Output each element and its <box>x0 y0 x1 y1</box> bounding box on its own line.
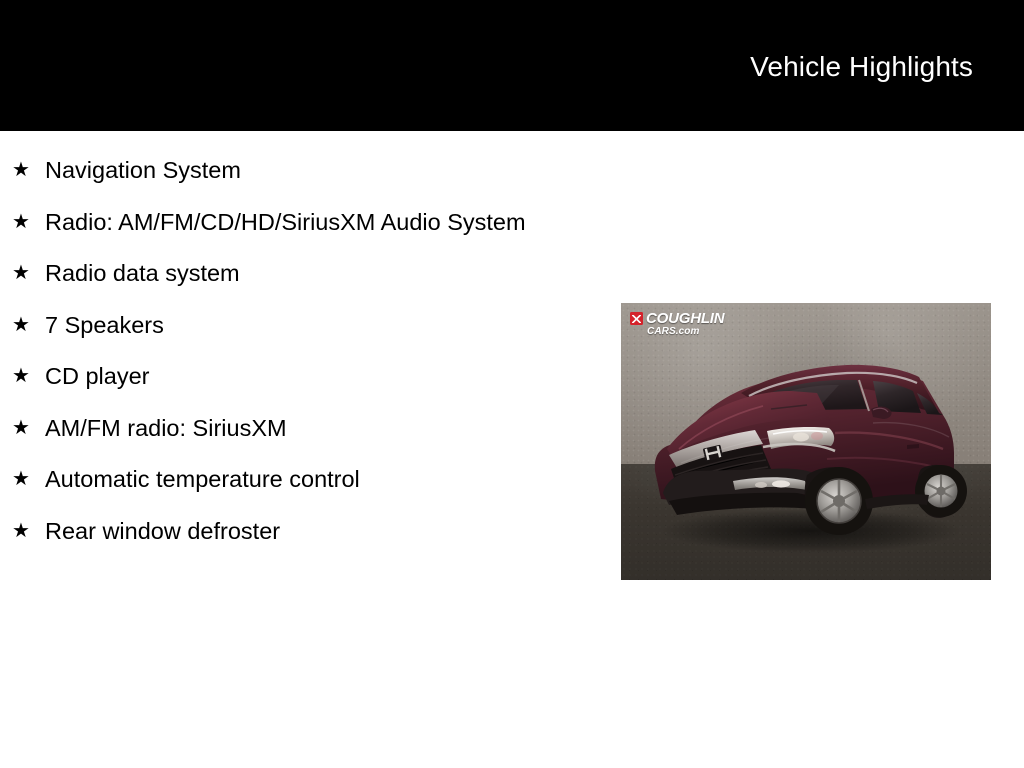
star-bullet-icon: ★ <box>12 205 34 239</box>
feature-label: 7 Speakers <box>45 308 580 342</box>
feature-label: Automatic temperature control <box>45 462 580 496</box>
list-item: ★ Navigation System <box>0 153 620 187</box>
list-item: ★ 7 Speakers <box>0 308 620 342</box>
list-item: ★ Rear window defroster <box>0 514 620 548</box>
vehicle-features-list: ★ Navigation System ★ Radio: AM/FM/CD/HD… <box>0 131 620 565</box>
feature-label: AM/FM radio: SiriusXM <box>45 411 580 445</box>
list-item: ★ Radio: AM/FM/CD/HD/SiriusXM Audio Syst… <box>0 205 620 239</box>
star-bullet-icon: ★ <box>12 359 34 393</box>
star-bullet-icon: ★ <box>12 462 34 496</box>
vehicle-photo: COUGHLIN CARS.com <box>621 303 991 580</box>
list-item: ★ CD player <box>0 359 620 393</box>
feature-label: Rear window defroster <box>45 514 580 548</box>
list-item: ★ Automatic temperature control <box>0 462 620 496</box>
star-bullet-icon: ★ <box>12 256 34 290</box>
list-item: ★ AM/FM radio: SiriusXM <box>0 411 620 445</box>
star-bullet-icon: ★ <box>12 411 34 445</box>
star-bullet-icon: ★ <box>12 153 34 187</box>
feature-label: CD player <box>45 359 580 393</box>
page-title: Vehicle Highlights <box>750 50 973 84</box>
slide-vehicle-highlights: Vehicle Highlights ★ Navigation System ★… <box>0 0 1024 768</box>
feature-label: Navigation System <box>45 153 580 187</box>
star-bullet-icon: ★ <box>12 514 34 548</box>
star-bullet-icon: ★ <box>12 308 34 342</box>
feature-label: Radio data system <box>45 256 580 290</box>
vehicle-illustration <box>621 303 991 580</box>
feature-label: Radio: AM/FM/CD/HD/SiriusXM Audio System <box>45 205 580 239</box>
list-item: ★ Radio data system <box>0 256 620 290</box>
header-band: Vehicle Highlights <box>0 0 1024 131</box>
